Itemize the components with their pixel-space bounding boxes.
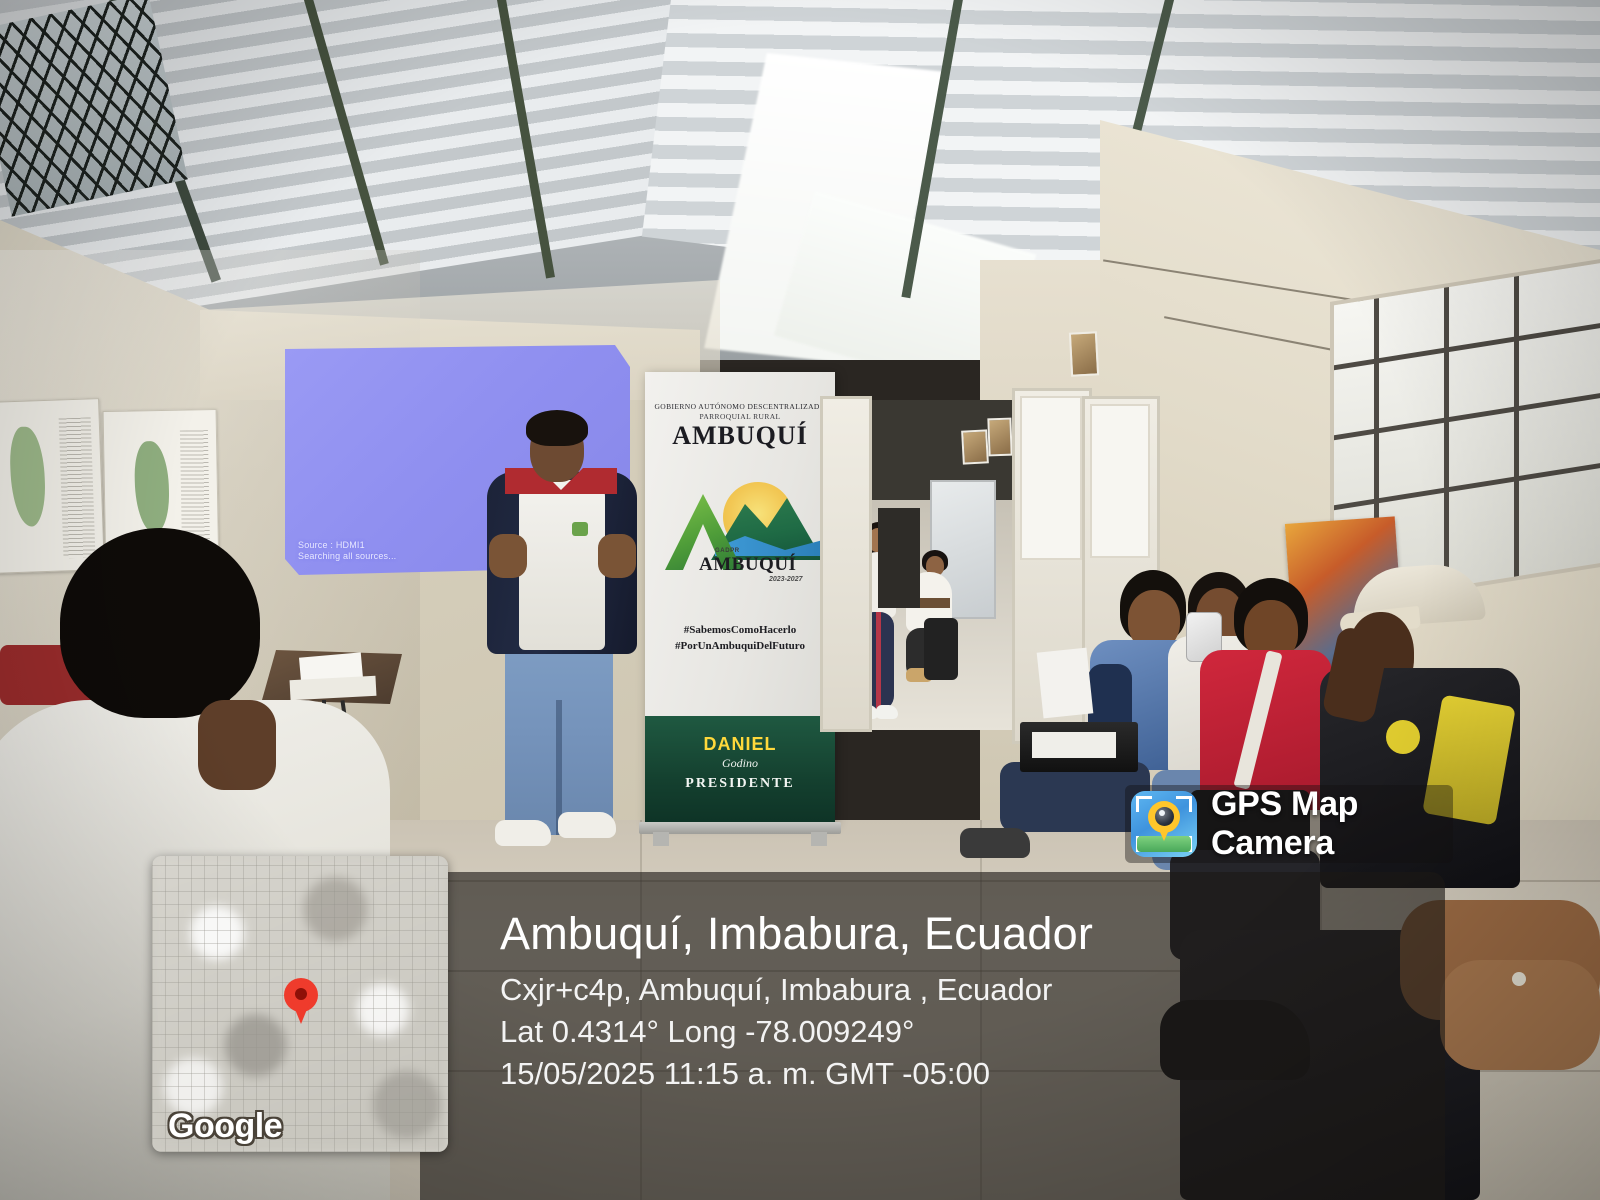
- icon-map-pin: [1148, 801, 1180, 841]
- banner-hashtag-1: #SabemosComoHacerlo: [645, 624, 835, 636]
- partition-glass-panel: [1090, 404, 1150, 558]
- presenter-hand-right: [598, 534, 636, 578]
- jacket-logo: [1386, 720, 1420, 754]
- location-title: Ambuquí, Imbabura, Ecuador: [500, 908, 1093, 960]
- banner-header-line1: GOBIERNO AUTÓNOMO DESCENTRALIZADO: [651, 402, 829, 411]
- banner-header-line2: PARROQUIAL RURAL: [651, 412, 829, 421]
- presenter-hair: [526, 410, 588, 446]
- map-thumbnail[interactable]: Google: [152, 856, 448, 1152]
- banner-role: PRESIDENTE: [645, 776, 835, 792]
- audience-binder-label: [1032, 732, 1116, 758]
- banner-foot: [811, 832, 827, 846]
- foreground-attendee-head: [60, 528, 260, 718]
- presenter-polo-shirt: [519, 480, 605, 650]
- location-coordinates: Lat 0.4314° Long -78.009249°: [500, 1014, 914, 1050]
- location-address: Cxjr+c4p, Ambuquí, Imbabura , Ecuador: [500, 972, 1052, 1008]
- banner-green-footer: DANIEL Godino PRESIDENTE: [645, 716, 835, 824]
- audience-paper: [1037, 648, 1094, 719]
- presenter-shoe-right: [558, 812, 616, 838]
- presenter-shoe-left: [495, 820, 551, 846]
- wall-picture: [961, 429, 989, 464]
- logo-years-text: 2023-2027: [769, 576, 802, 583]
- partition-left: [820, 396, 872, 732]
- wall-map-poster-1: [0, 398, 105, 574]
- ambuqui-logo: GADPR AMBUQUÍ 2023-2027: [659, 480, 821, 592]
- gps-map-camera-icon: [1131, 791, 1197, 857]
- foreground-attendee-hand: [198, 700, 276, 790]
- rollup-banner: GOBIERNO AUTÓNOMO DESCENTRALIZADO PARROQ…: [645, 372, 835, 824]
- office-chair: [924, 618, 958, 680]
- location-timestamp: 15/05/2025 11:15 a. m. GMT -05:00: [500, 1056, 990, 1092]
- presenter-hand-left: [489, 534, 527, 578]
- banner-name-script: Godino: [645, 756, 835, 771]
- projector-source-line1: Source : HDMI1: [298, 540, 396, 551]
- partition-glass-panel: [1020, 396, 1082, 560]
- google-attribution: Google: [168, 1107, 282, 1146]
- logo-ambuqui-text: AMBUQUÍ: [699, 554, 796, 576]
- wall-picture: [1069, 331, 1099, 376]
- banner-hashtag-2: #PorUnAmbuquiDelFuturo: [645, 640, 835, 652]
- wall-picture: [987, 418, 1012, 457]
- banner-name: DANIEL: [645, 734, 835, 755]
- banner-name-main: DANIE: [703, 734, 764, 754]
- banner-foot: [653, 832, 669, 846]
- banner-title: AMBUQUÍ: [651, 421, 829, 451]
- ring-icon: [1512, 972, 1526, 986]
- office-cabinet: [878, 508, 920, 608]
- gps-map-camera-watermark: GPS Map Camera: [1125, 785, 1453, 863]
- screenshot-root: Source : HDMI1 Searching all sources... …: [0, 0, 1600, 1200]
- projector-source-text: Source : HDMI1 Searching all sources...: [298, 540, 396, 562]
- gps-map-camera-label: GPS Map Camera: [1211, 785, 1453, 863]
- icon-camera-lens: [1155, 807, 1174, 826]
- projector-source-line2: Searching all sources...: [298, 551, 396, 562]
- map-pin-icon: [284, 978, 318, 1024]
- presenter-logo-patch: [572, 522, 588, 536]
- banner-name-accent: L: [765, 734, 777, 754]
